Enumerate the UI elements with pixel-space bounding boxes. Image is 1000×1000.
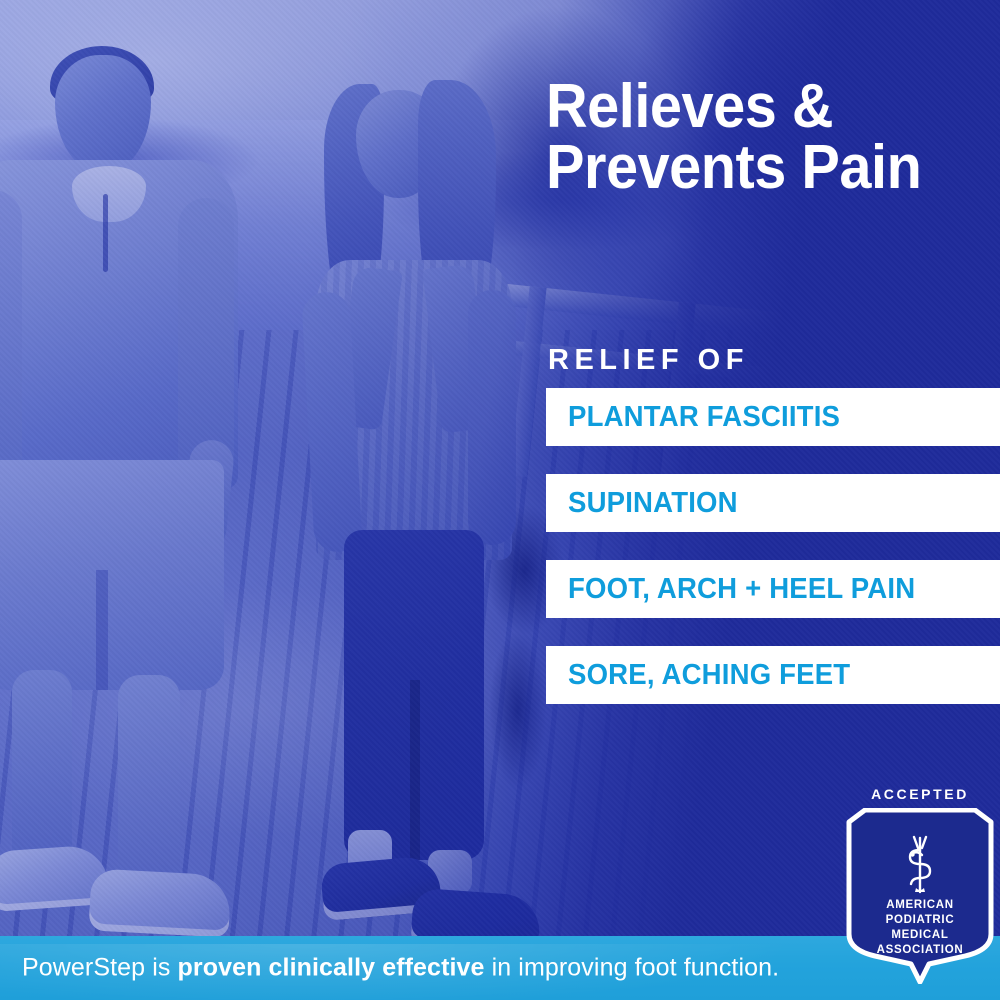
footer-claim-suffix: in improving foot function.	[485, 954, 780, 982]
apma-line-3: MEDICAL	[845, 928, 995, 943]
apma-accepted-badge: ACCEPTED AMERICAN PODIATRIC MEDICAL	[845, 786, 995, 984]
relief-of-eyebrow: RELIEF OF	[548, 344, 749, 377]
apma-association-name: AMERICAN PODIATRIC MEDICAL ASSOCIATION	[845, 898, 995, 958]
relief-item-supination: SUPINATION	[546, 474, 1000, 532]
apma-accepted-label: ACCEPTED	[845, 786, 995, 802]
footer-claim: PowerStep is proven clinically effective…	[22, 954, 779, 983]
relief-item-foot-arch-heel-pain: FOOT, ARCH + HEEL PAIN	[546, 560, 1000, 618]
relief-list: PLANTAR FASCIITIS SUPINATION FOOT, ARCH …	[546, 388, 1000, 732]
apma-line-2: PODIATRIC	[845, 913, 995, 928]
apma-line-1: AMERICAN	[845, 898, 995, 913]
footer-claim-emphasis: proven clinically effective	[178, 954, 485, 982]
relief-item-label: SORE, ACHING FEET	[568, 659, 850, 692]
relief-item-sore-aching-feet: SORE, ACHING FEET	[546, 646, 1000, 704]
headline-line-2: Prevents Pain	[546, 137, 946, 198]
headline-line-1: Relieves &	[546, 76, 946, 137]
footer-claim-prefix: PowerStep is	[22, 954, 178, 982]
apma-caduceus-icon	[845, 834, 995, 901]
relief-item-label: PLANTAR FASCIITIS	[568, 401, 840, 434]
relief-item-plantar-fasciitis: PLANTAR FASCIITIS	[546, 388, 1000, 446]
headline: Relieves & Prevents Pain	[546, 76, 946, 199]
relief-item-label: FOOT, ARCH + HEEL PAIN	[568, 573, 915, 606]
apma-line-4: ASSOCIATION	[845, 943, 995, 958]
relief-item-label: SUPINATION	[568, 487, 738, 520]
powerstep-ad-creative: Relieves & Prevents Pain RELIEF OF PLANT…	[0, 0, 1000, 1000]
